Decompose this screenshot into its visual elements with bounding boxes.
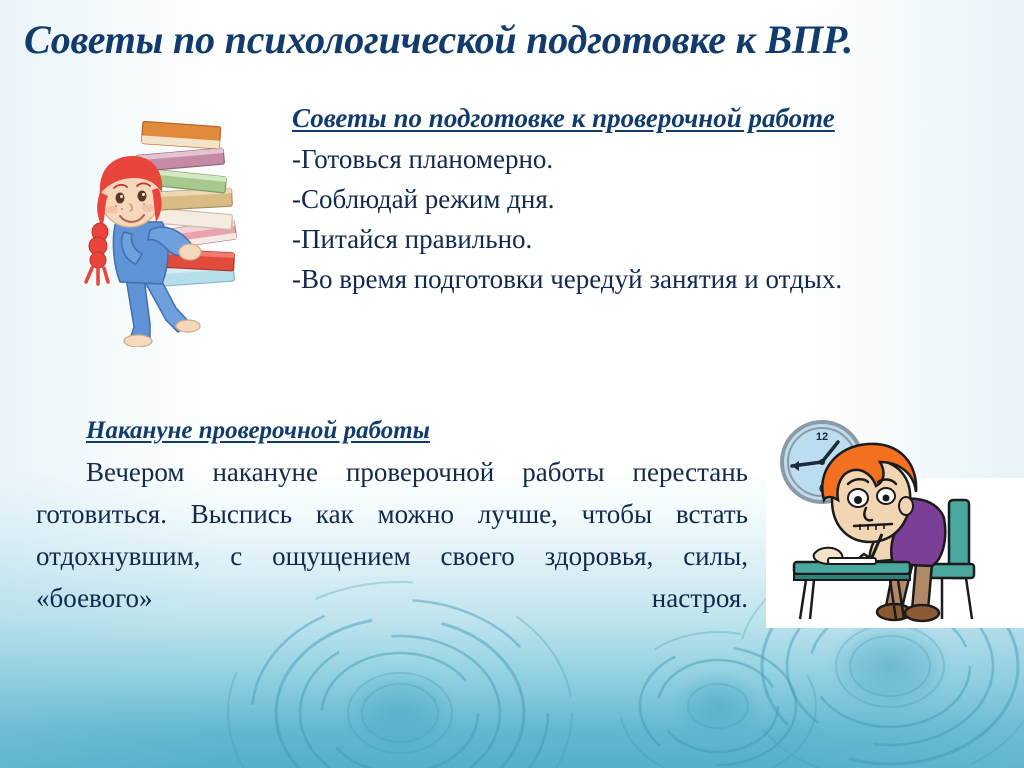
tips-list-item: -Питайся правильно. [292,219,1004,259]
presentation-slide: Советы по психологической подготовке к В… [0,0,1024,768]
tips-list-item: -Во время подготовки чередуй занятия и о… [292,259,1004,299]
girl-with-books-illustration [38,92,268,347]
slide-title: Советы по психологической подготовке к В… [24,16,1014,64]
tips-list-item: -Соблюдай режим дня. [292,179,1004,219]
evening-section-body: Вечером накануне проверочной работы пере… [36,451,748,661]
boy-at-desk-illustration: 12 3 6 [766,414,1024,629]
evening-section-heading: Накануне проверочной работы [86,415,430,447]
svg-text:12: 12 [816,431,828,443]
tips-section-heading: Советы по подготовке к проверочной работ… [292,101,1004,135]
tips-list: -Готовься планомерно. -Соблюдай режим дн… [292,139,1004,299]
evening-heading-row: Накануне проверочной работы [36,415,748,447]
tips-list-item: -Готовься планомерно. [292,139,1004,179]
evening-section: Накануне проверочной работы Вечером нака… [36,415,748,661]
tips-section: Советы по подготовке к проверочной работ… [292,101,1004,299]
